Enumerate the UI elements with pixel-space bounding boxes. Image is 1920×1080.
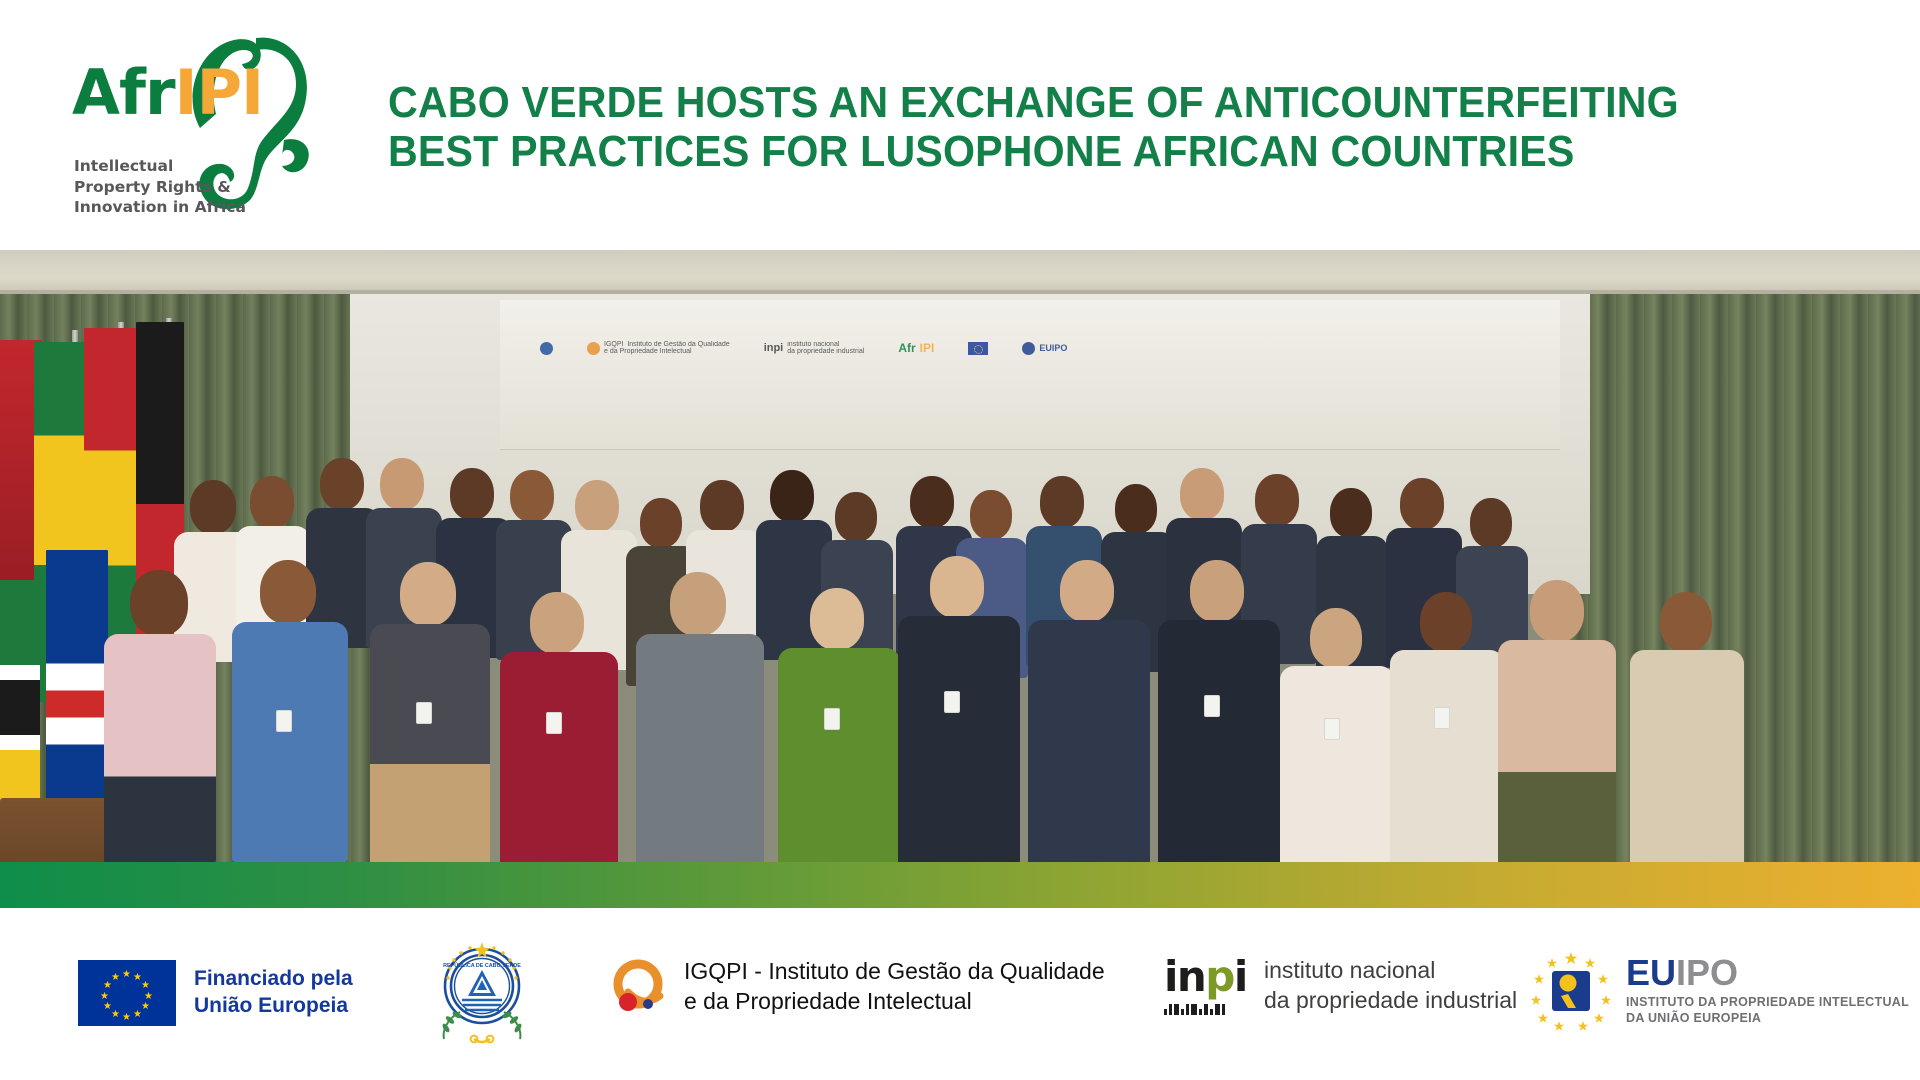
igqpi-mark-svg [612, 958, 668, 1014]
backdrop-logo-eu [968, 342, 988, 355]
eu-funding-line-2: União Europeia [194, 993, 353, 1020]
afripi-logo-mark: AfrIPI [72, 40, 322, 152]
inpi-text: instituto nacional da propriedade indust… [1264, 956, 1517, 1016]
backdrop-logo-inpi: inpiinstituto nacionalda propriedade ind… [764, 341, 865, 355]
backdrop-logo-afripi: AfrIPI [898, 341, 934, 355]
afripi-tagline: Intellectual Property Rights & Innovatio… [74, 156, 246, 218]
backdrop-logo-igqpi: IGQPI Instituto de Gestão da Qualidadee … [587, 341, 730, 355]
cabo-verde-emblem-svg: REPÚBLICA DE CABO VERDE [430, 940, 534, 1044]
euipo-word-ipo: IPO [1676, 952, 1738, 993]
header: AfrIPI Intellectual Property Rights & In… [0, 0, 1920, 250]
igqpi-line-2: e da Propriedade Intelectual [684, 986, 1105, 1016]
logo-euipo: EUIPO INSTITUTO DA PROPRIEDADE INTELECTU… [1528, 950, 1909, 1030]
inpi-mark-icon: inpi [1164, 956, 1250, 1016]
inpi-wordmark: inpi [1164, 956, 1250, 998]
igqpi-text: IGQPI - Instituto de Gestão da Qualidade… [684, 956, 1105, 1017]
afripi-word-ipi: IPI [175, 56, 264, 129]
euipo-subtitle-line-2: DA UNIÃO EUROPEIA [1626, 1010, 1909, 1026]
afripi-tagline-line-1: Intellectual [74, 156, 246, 177]
afripi-logo: AfrIPI Intellectual Property Rights & In… [72, 40, 322, 220]
inpi-barcode-icon [1164, 1002, 1250, 1015]
page-title-line-2: BEST PRACTICES FOR LUSOPHONE AFRICAN COU… [388, 127, 1753, 176]
euipo-subtitle-line-1: INSTITUTO DA PROPRIEDADE INTELECTUAL [1626, 994, 1909, 1010]
inpi-line-1: instituto nacional [1264, 956, 1517, 986]
cabo-verde-emblem-icon: REPÚBLICA DE CABO VERDE [430, 940, 534, 1044]
logo-igqpi: IGQPI - Instituto de Gestão da Qualidade… [612, 956, 1105, 1017]
euipo-text: EUIPO INSTITUTO DA PROPRIEDADE INTELECTU… [1626, 955, 1909, 1026]
backdrop-logo-euipo: EUIPO [1022, 342, 1067, 355]
eu-funding-line-1: Financiado pela [194, 966, 353, 993]
brand-gradient-bar [0, 862, 1920, 908]
people-front-row [110, 550, 1920, 862]
flag-cabo-verde [46, 550, 108, 820]
euipo-wordmark: EUIPO [1626, 955, 1909, 991]
euipo-mark-icon [1528, 950, 1614, 1030]
inpi-line-2: da propriedade industrial [1264, 986, 1517, 1016]
euipo-mark-svg [1528, 950, 1614, 1032]
banner-page: AfrIPI Intellectual Property Rights & In… [0, 0, 1920, 1080]
inpi-word-i: i [1234, 952, 1247, 1001]
group-photo: IGQPI Instituto de Gestão da Qualidadee … [0, 250, 1920, 862]
eu-flag-icon: ★ ★ ★ ★ ★ ★ ★ ★ ★ ★ ★ ★ [78, 960, 176, 1026]
page-title-line-1: CABO VERDE HOSTS AN EXCHANGE OF ANTICOUN… [388, 78, 1753, 127]
igqpi-mark-icon [612, 958, 668, 1014]
logo-eu-funding: ★ ★ ★ ★ ★ ★ ★ ★ ★ ★ ★ ★ Financiado pela … [78, 960, 353, 1026]
logo-cabo-verde: REPÚBLICA DE CABO VERDE [430, 940, 534, 1044]
afripi-wordmark: AfrIPI [72, 62, 263, 124]
inpi-word-in: in [1164, 952, 1205, 1001]
logo-inpi: inpi instituto nacional da propriedade i… [1164, 956, 1517, 1016]
euipo-word-eu: EU [1626, 952, 1676, 993]
inpi-word-p: p [1205, 952, 1234, 1001]
igqpi-line-1: IGQPI - Instituto de Gestão da Qualidade [684, 956, 1105, 986]
page-title: CABO VERDE HOSTS AN EXCHANGE OF ANTICOUN… [388, 78, 1753, 177]
eu-funding-text: Financiado pela União Europeia [194, 966, 353, 1020]
afripi-tagline-line-2: Property Rights & [74, 177, 246, 198]
euipo-subtitle: INSTITUTO DA PROPRIEDADE INTELECTUAL DA … [1626, 994, 1909, 1026]
afripi-word-afr: Afr [72, 56, 175, 129]
backdrop-logo-strip: IGQPI Instituto de Gestão da Qualidadee … [540, 320, 1540, 376]
footer-partner-logos: ★ ★ ★ ★ ★ ★ ★ ★ ★ ★ ★ ★ Financiado pela … [0, 908, 1920, 1080]
flag-mozambique [0, 580, 40, 830]
cabo-verde-ring-text: REPÚBLICA DE CABO VERDE [443, 962, 521, 969]
afripi-tagline-line-3: Innovation in Africa [74, 197, 246, 218]
backdrop-logo-cabo-verde [540, 342, 553, 355]
photo-podium [0, 798, 110, 862]
